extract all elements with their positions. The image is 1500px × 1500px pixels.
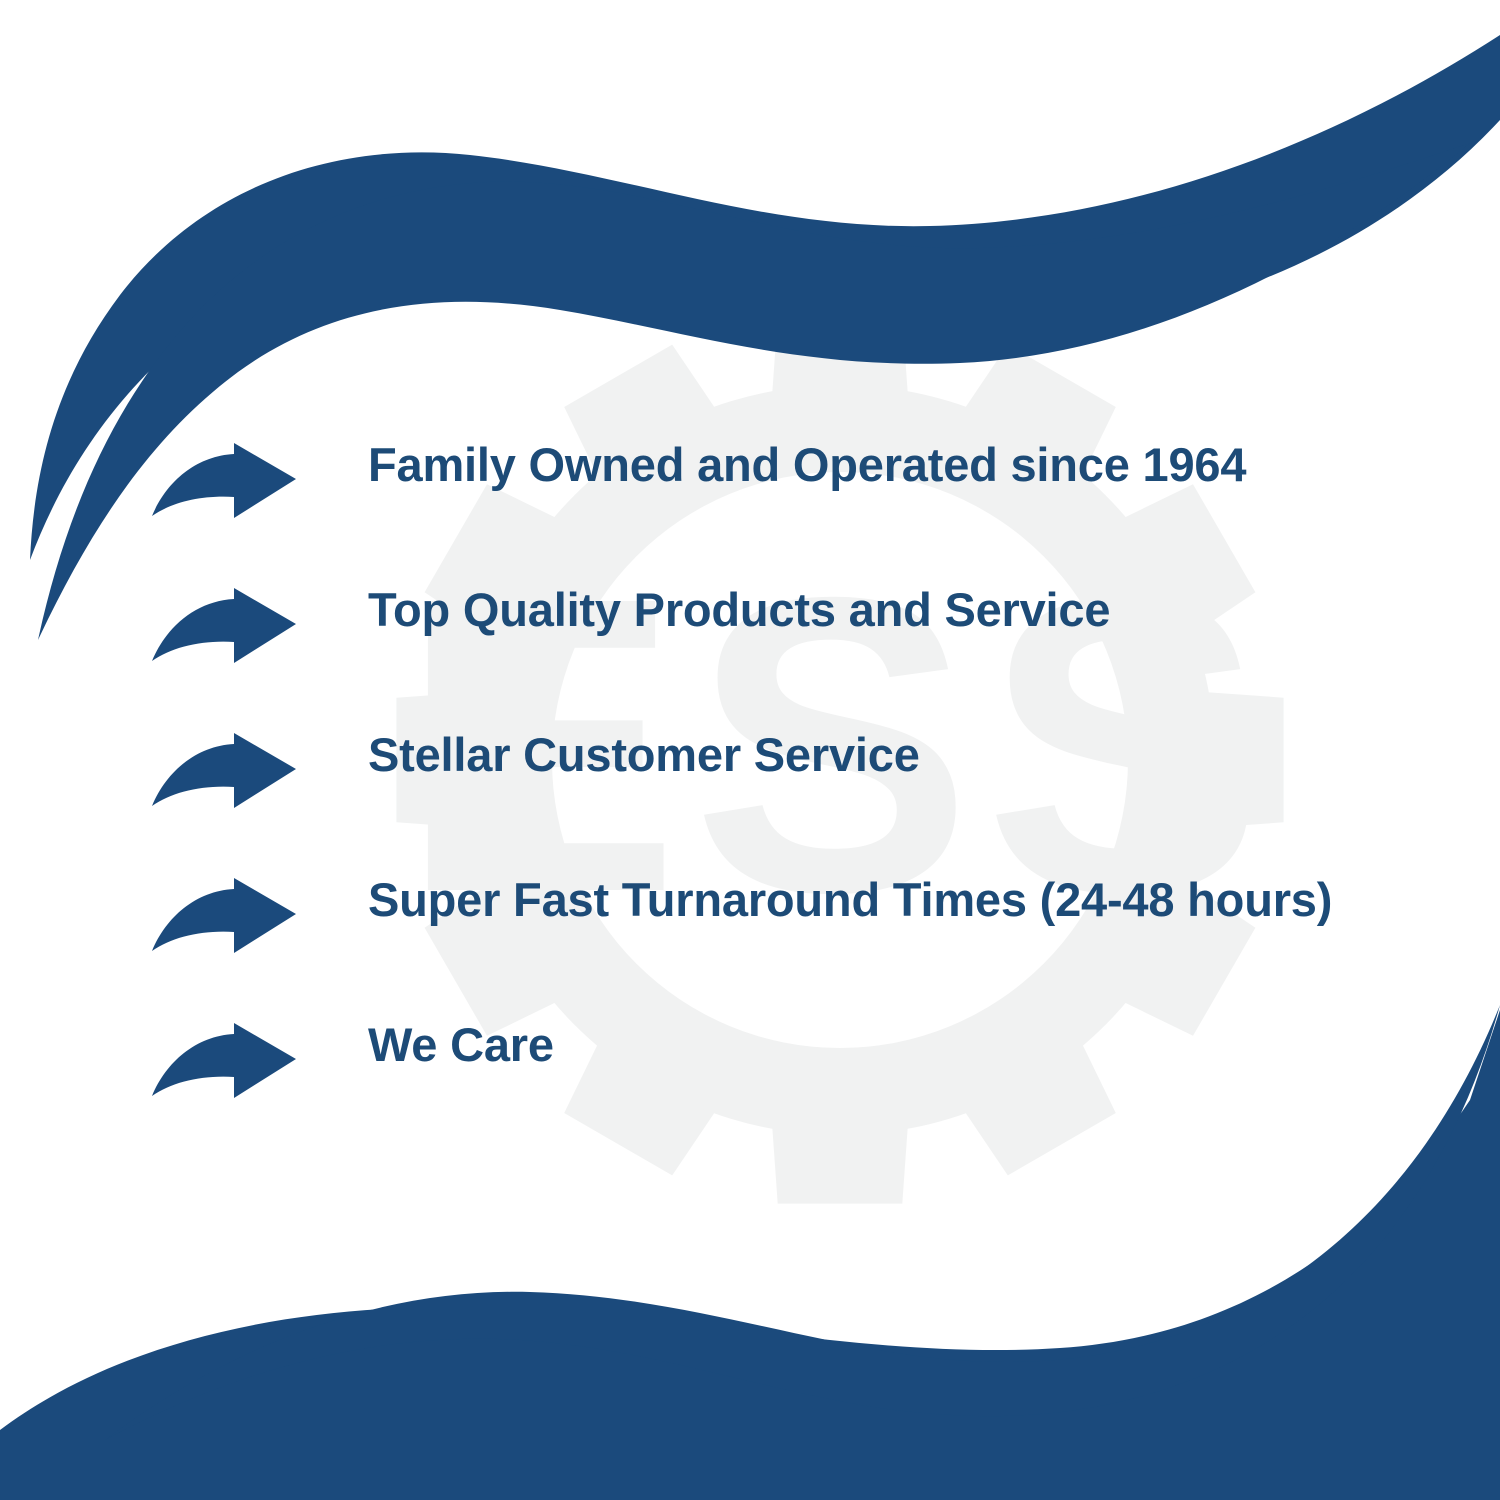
- curved-arrow-right-icon: [150, 587, 300, 667]
- curved-arrow-right-icon: [150, 877, 300, 957]
- benefit-label: Family Owned and Operated since 1964: [368, 438, 1450, 492]
- benefit-label: Top Quality Products and Service: [368, 583, 1450, 637]
- benefit-label: Stellar Customer Service: [368, 728, 1450, 782]
- curved-arrow-right-icon: [150, 442, 300, 522]
- benefit-item: Stellar Customer Service: [150, 722, 1450, 867]
- benefit-item: Super Fast Turnaround Times (24-48 hours…: [150, 867, 1450, 1012]
- curved-arrow-right-icon: [150, 732, 300, 812]
- benefits-list: Family Owned and Operated since 1964 Top…: [150, 432, 1450, 1157]
- promo-graphic: ESS WHY SHOP WITH US Family Owned and Op…: [0, 0, 1500, 1500]
- benefit-item: Top Quality Products and Service: [150, 577, 1450, 722]
- page-title: WHY SHOP WITH US: [53, 18, 1448, 118]
- benefit-item: Family Owned and Operated since 1964: [150, 432, 1450, 577]
- benefit-item: We Care: [150, 1012, 1450, 1157]
- curved-arrow-right-icon: [150, 1022, 300, 1102]
- benefit-label: We Care: [368, 1018, 1450, 1072]
- benefit-label: Super Fast Turnaround Times (24-48 hours…: [368, 873, 1450, 927]
